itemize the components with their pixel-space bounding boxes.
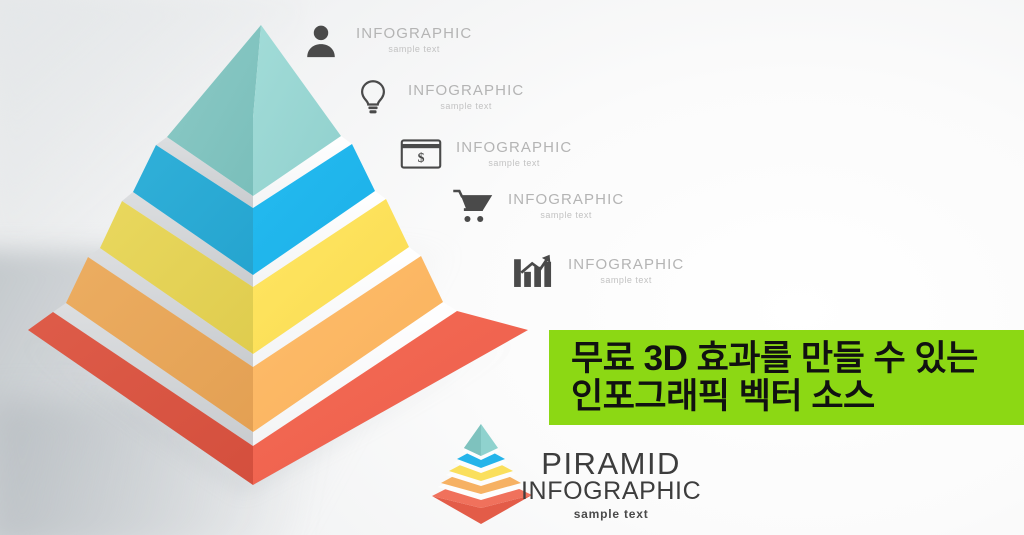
- logo-pyramid-shape: [432, 424, 532, 524]
- infographic-canvas: INFOGRAPHIC sample text INFOGRAPHIC samp…: [0, 0, 1024, 535]
- brand-title-block: PIRAMID INFOGRAPHIC sample text: [521, 449, 701, 521]
- banner-line-1: 무료 3D 효과를 만들 수 있는: [571, 340, 1024, 377]
- korean-caption-banner: 무료 3D 효과를 만들 수 있는 인포그래픽 벡터 소스: [549, 330, 1024, 425]
- banner-line-2: 인포그래픽 벡터 소스: [571, 378, 1024, 415]
- logo-pyramid: [0, 0, 1024, 535]
- brand-line-2: INFOGRAPHIC: [521, 479, 701, 505]
- brand-line-3: sample text: [521, 507, 701, 521]
- brand-line-1: PIRAMID: [521, 449, 701, 479]
